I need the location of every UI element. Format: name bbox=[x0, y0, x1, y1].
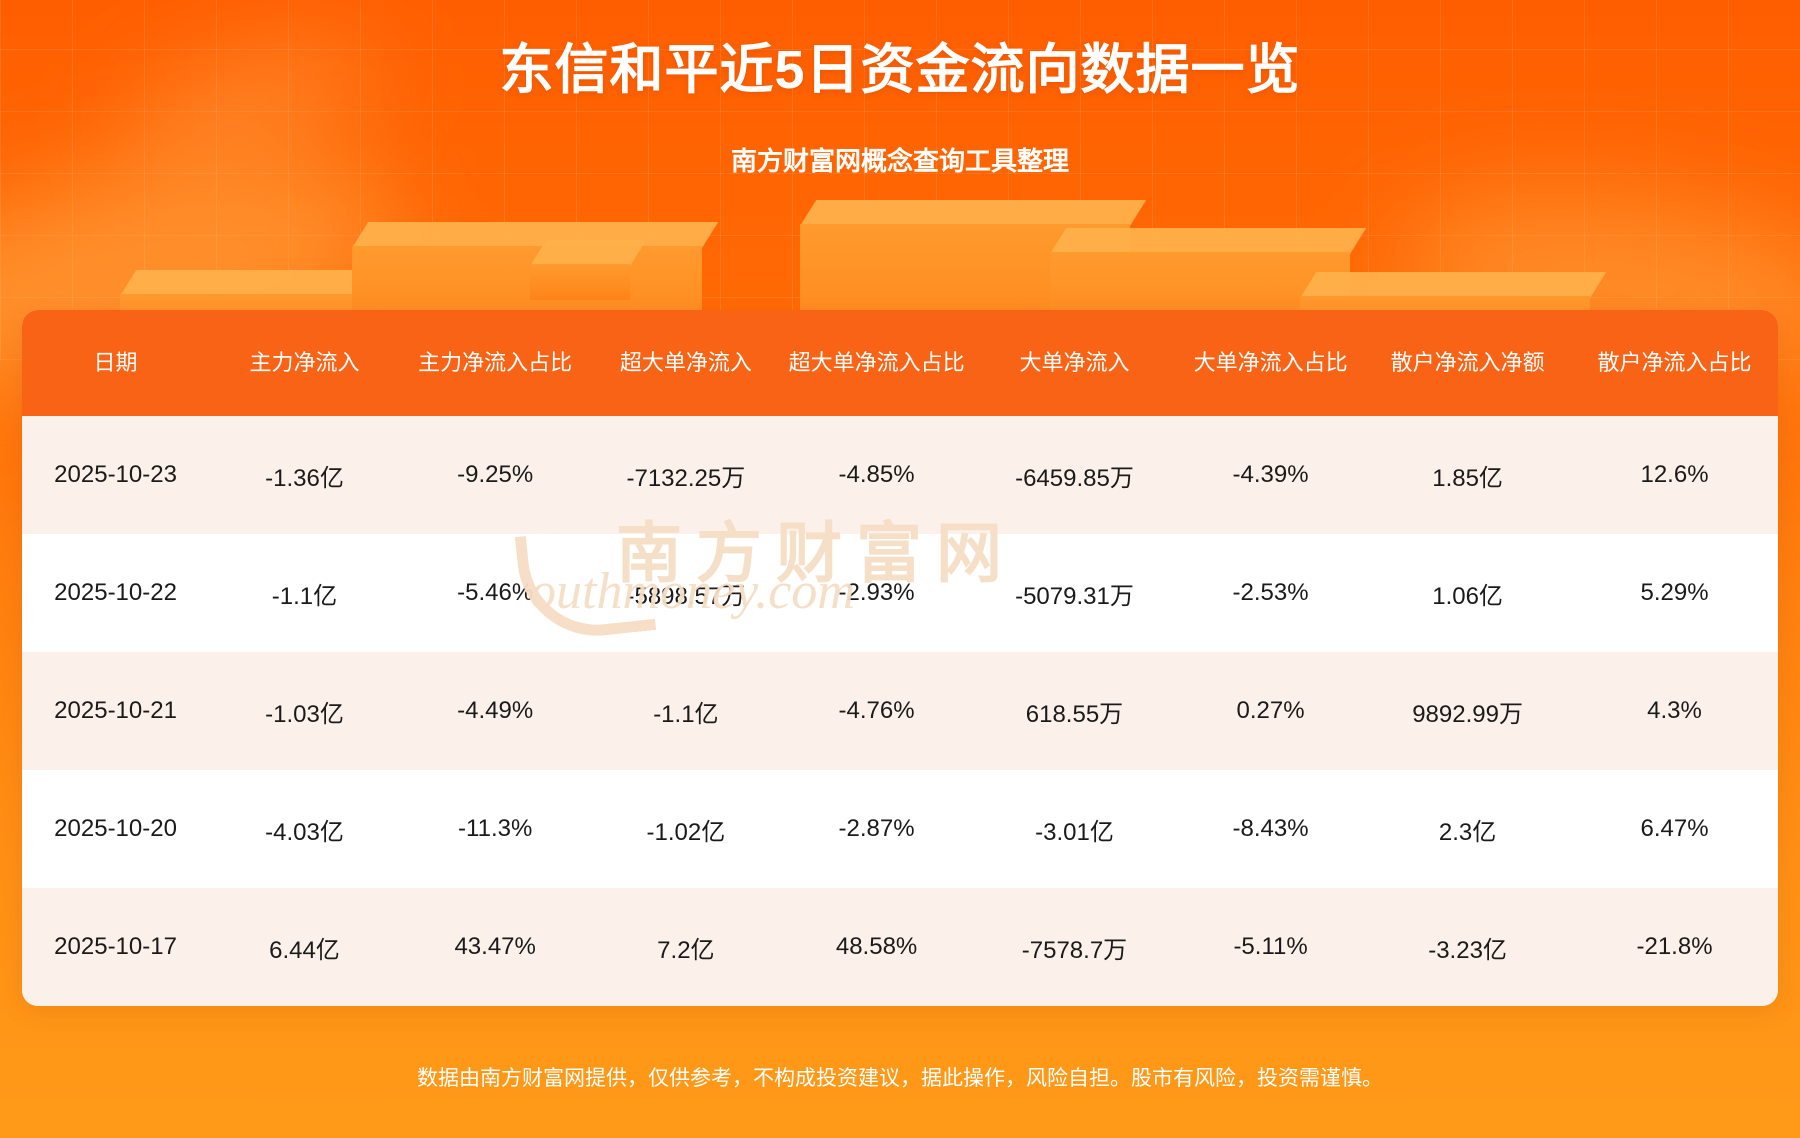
cell-large-pct: 0.27% bbox=[1177, 652, 1364, 770]
cell-date: 2025-10-21 bbox=[22, 652, 209, 770]
page-subtitle: 南方财富网概念查询工具整理 bbox=[0, 142, 1800, 180]
fund-flow-table: 日期 主力净流入 主力净流入占比 超大单净流入 超大单净流入占比 大单净流入 大… bbox=[22, 310, 1778, 1006]
cell-large-pct: -4.39% bbox=[1177, 416, 1364, 534]
cell-main-net: -4.03亿 bbox=[209, 770, 400, 888]
cell-retail-pct: -21.8% bbox=[1571, 888, 1778, 1006]
cell-large-net: -7578.7万 bbox=[972, 888, 1177, 1006]
cell-date: 2025-10-22 bbox=[22, 534, 209, 652]
cell-extra-large-net: 7.2亿 bbox=[591, 888, 782, 1006]
cell-main-pct: -5.46% bbox=[400, 534, 591, 652]
cell-extra-large-pct: -4.76% bbox=[781, 652, 972, 770]
cell-retail-pct: 4.3% bbox=[1571, 652, 1778, 770]
page-title: 东信和平近5日资金流向数据一览 bbox=[0, 36, 1800, 104]
cell-main-net: -1.36亿 bbox=[209, 416, 400, 534]
cell-main-pct: 43.47% bbox=[400, 888, 591, 1006]
cell-date: 2025-10-20 bbox=[22, 770, 209, 888]
cell-main-net: -1.1亿 bbox=[209, 534, 400, 652]
cell-retail-net: -3.23亿 bbox=[1364, 888, 1571, 1006]
cell-main-net: 6.44亿 bbox=[209, 888, 400, 1006]
cell-main-pct: -9.25% bbox=[400, 416, 591, 534]
table-row: 2025-10-17 6.44亿 43.47% 7.2亿 48.58% -757… bbox=[22, 888, 1778, 1006]
cell-large-net: -3.01亿 bbox=[972, 770, 1177, 888]
podium-block-small bbox=[530, 240, 630, 300]
fund-flow-table-card: 日期 主力净流入 主力净流入占比 超大单净流入 超大单净流入占比 大单净流入 大… bbox=[22, 310, 1778, 1006]
column-header-main-pct: 主力净流入占比 bbox=[400, 310, 591, 416]
cell-extra-large-net: -1.1亿 bbox=[591, 652, 782, 770]
column-header-extra-large-net: 超大单净流入 bbox=[591, 310, 782, 416]
table-row: 2025-10-22 -1.1亿 -5.46% -5898.57万 -2.93%… bbox=[22, 534, 1778, 652]
cell-main-pct: -11.3% bbox=[400, 770, 591, 888]
column-header-date: 日期 bbox=[22, 310, 209, 416]
cell-large-net: -6459.85万 bbox=[972, 416, 1177, 534]
cell-date: 2025-10-17 bbox=[22, 888, 209, 1006]
cell-retail-net: 1.85亿 bbox=[1364, 416, 1571, 534]
table-body: 2025-10-23 -1.36亿 -9.25% -7132.25万 -4.85… bbox=[22, 416, 1778, 1006]
cell-extra-large-net: -7132.25万 bbox=[591, 416, 782, 534]
cell-large-pct: -8.43% bbox=[1177, 770, 1364, 888]
cell-retail-pct: 6.47% bbox=[1571, 770, 1778, 888]
table-row: 2025-10-23 -1.36亿 -9.25% -7132.25万 -4.85… bbox=[22, 416, 1778, 534]
column-header-retail-pct: 散户净流入占比 bbox=[1571, 310, 1778, 416]
cell-extra-large-pct: -2.93% bbox=[781, 534, 972, 652]
column-header-main-net: 主力净流入 bbox=[209, 310, 400, 416]
cell-extra-large-pct: 48.58% bbox=[781, 888, 972, 1006]
table-header-row: 日期 主力净流入 主力净流入占比 超大单净流入 超大单净流入占比 大单净流入 大… bbox=[22, 310, 1778, 416]
cell-retail-pct: 12.6% bbox=[1571, 416, 1778, 534]
cell-retail-net: 9892.99万 bbox=[1364, 652, 1571, 770]
cell-large-pct: -2.53% bbox=[1177, 534, 1364, 652]
column-header-retail-net: 散户净流入净额 bbox=[1364, 310, 1571, 416]
table-row: 2025-10-21 -1.03亿 -4.49% -1.1亿 -4.76% 61… bbox=[22, 652, 1778, 770]
cell-large-net: -5079.31万 bbox=[972, 534, 1177, 652]
column-header-large-net: 大单净流入 bbox=[972, 310, 1177, 416]
cell-extra-large-net: -1.02亿 bbox=[591, 770, 782, 888]
cell-retail-net: 1.06亿 bbox=[1364, 534, 1571, 652]
cell-extra-large-pct: -4.85% bbox=[781, 416, 972, 534]
cell-main-pct: -4.49% bbox=[400, 652, 591, 770]
poster-canvas: 东信和平近5日资金流向数据一览 南方财富网概念查询工具整理 日期 主力净流入 主… bbox=[0, 0, 1800, 1138]
cell-main-net: -1.03亿 bbox=[209, 652, 400, 770]
column-header-extra-large-pct: 超大单净流入占比 bbox=[781, 310, 972, 416]
cell-retail-net: 2.3亿 bbox=[1364, 770, 1571, 888]
cell-large-pct: -5.11% bbox=[1177, 888, 1364, 1006]
column-header-large-pct: 大单净流入占比 bbox=[1177, 310, 1364, 416]
cell-large-net: 618.55万 bbox=[972, 652, 1177, 770]
disclaimer-text: 数据由南方财富网提供，仅供参考，不构成投资建议，据此操作，风险自担。股市有风险，… bbox=[0, 1062, 1800, 1096]
table-row: 2025-10-20 -4.03亿 -11.3% -1.02亿 -2.87% -… bbox=[22, 770, 1778, 888]
cell-date: 2025-10-23 bbox=[22, 416, 209, 534]
table-header: 日期 主力净流入 主力净流入占比 超大单净流入 超大单净流入占比 大单净流入 大… bbox=[22, 310, 1778, 416]
cell-retail-pct: 5.29% bbox=[1571, 534, 1778, 652]
cell-extra-large-pct: -2.87% bbox=[781, 770, 972, 888]
cell-extra-large-net: -5898.57万 bbox=[591, 534, 782, 652]
